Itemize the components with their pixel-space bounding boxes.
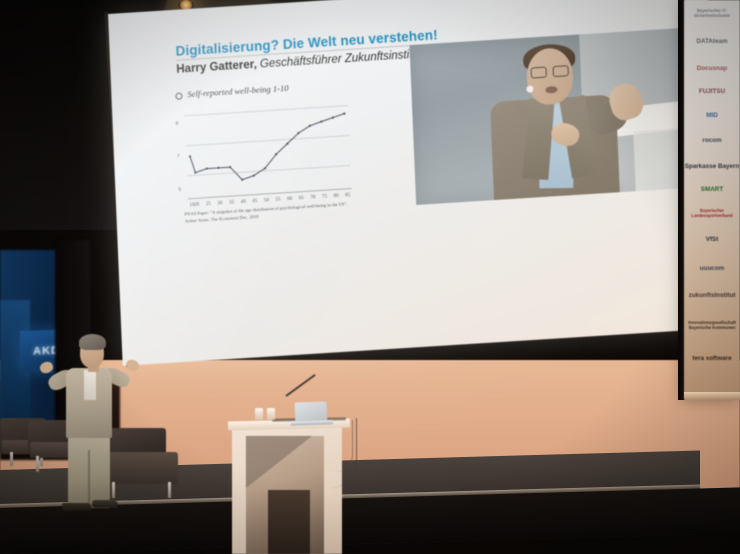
speaker-shoe — [62, 503, 92, 511]
chart-legend-label: Self-reported well-being 1-10 — [187, 83, 289, 99]
chart-line-series — [184, 97, 352, 199]
speaker-name: Harry Gatterer, — [176, 59, 257, 76]
armchair-seat — [98, 452, 178, 484]
legend-marker-icon — [175, 92, 182, 99]
chart-x-tick: 55 — [275, 197, 280, 203]
video-speaker-glasses-right — [552, 65, 568, 77]
chart-x-tick: 30 — [217, 200, 222, 206]
live-video-panel — [410, 27, 706, 205]
banner-glare — [684, 0, 740, 400]
video-speaker-glasses-left — [531, 67, 547, 79]
armchair-leg — [112, 482, 115, 498]
speaker-shirt — [84, 370, 96, 400]
chart-y-tick: 7 — [177, 154, 180, 160]
sponsor-banner: Bayerischer IT-SicherheitsclusterDATAtea… — [684, 0, 740, 400]
water-glass — [267, 408, 275, 420]
speaker-leg-split — [88, 450, 90, 508]
projection-screen-area: Digitalisierung? Die Welt neu verstehen!… — [60, 0, 680, 420]
speaker-shoe — [92, 500, 118, 508]
armchair-leg — [168, 482, 171, 498]
chart-x-tick: 40 — [240, 199, 245, 205]
banner-bottom-glow — [684, 392, 740, 400]
chart-x-tick: 85 — [345, 192, 350, 198]
chart-x-tick: 25 — [206, 201, 211, 207]
water-glass — [255, 408, 263, 420]
chart-x-tick: 75 — [322, 194, 327, 200]
chart-x-tick: 35 — [229, 199, 234, 205]
chart-x-tick: 60 — [287, 196, 292, 202]
chart-x-tick: 20 — [194, 202, 199, 208]
chart-x-tick: 50 — [264, 197, 269, 203]
lectern-shadow-triangle — [246, 436, 312, 488]
chart-x-tick: 70 — [310, 194, 315, 200]
wellbeing-chart: Self-reported well-being 1-10 678 182025… — [173, 79, 355, 230]
speaker-hair — [79, 334, 106, 350]
chart-x-tick: 45 — [252, 198, 257, 204]
chart-y-tick: 6 — [178, 187, 181, 193]
photo-scene: AKDB Digitalisierung? Die Welt neu verst… — [0, 0, 740, 554]
chart-x-tick: 65 — [299, 195, 304, 201]
armchair-leg — [10, 452, 13, 466]
projection-screen: Digitalisierung? Die Welt neu verstehen!… — [108, 0, 722, 366]
lectern-opening — [268, 490, 310, 554]
chart-x-tick: 80 — [333, 193, 338, 199]
chart-y-tick: 8 — [176, 121, 179, 127]
armchair-leg — [36, 456, 39, 472]
chart-plot-area: 678 182025303540455055606570758085 — [184, 97, 352, 199]
